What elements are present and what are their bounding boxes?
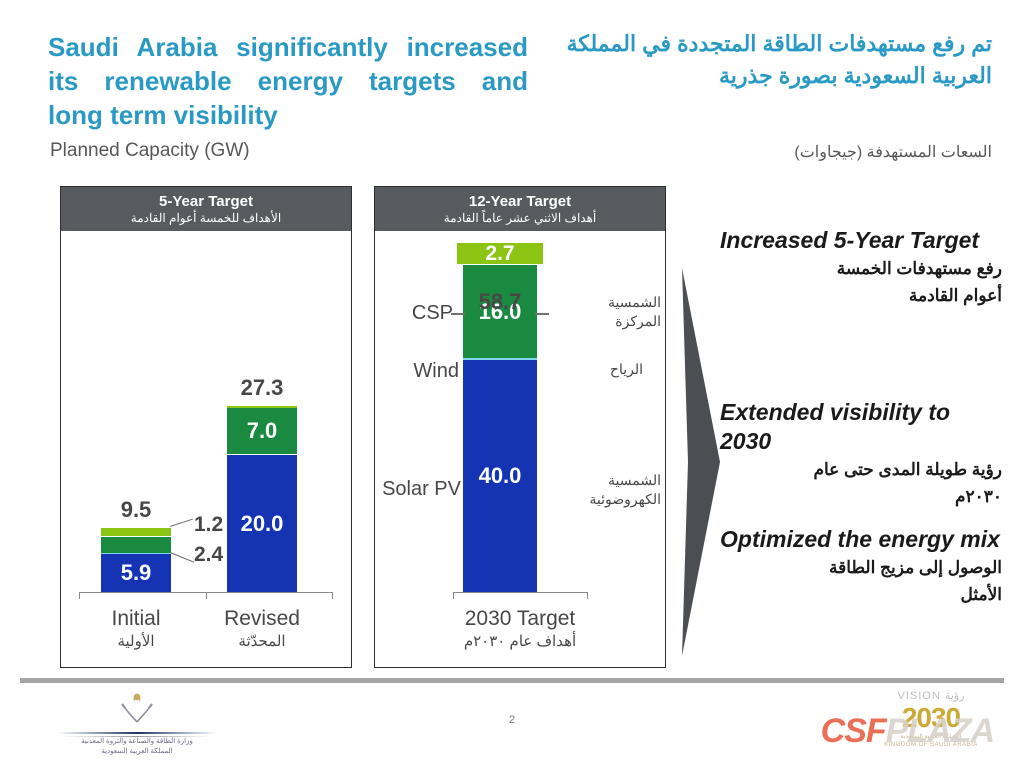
series-label-solarpv-ar: الشمسية الكهروضوئية [565,471,661,509]
page-subtitle-en: Planned Capacity (GW) [50,140,250,162]
bar-revised: 7.0 20.0 [227,406,297,592]
series-label-solarpv-ar-l1: الشمسية [565,471,661,490]
panel-header-5-year-en: 5-Year Target [65,193,347,210]
category-label-2030-en: 2030 Target [420,606,620,631]
callout-csp-1-2: 1.2 [194,513,223,537]
highlight-point-2-ar-l2: ٢٠٣٠م [720,483,1002,510]
vision-2030-logo: VISION رؤية 2030 المملكة العربية السعودي… [866,690,996,760]
x-axis-tick-left-2030 [453,592,454,599]
bar-revised-seg-solar: 20.0 [227,454,297,592]
ministry-name-line-2: المملكة العربية السعودية [52,747,222,757]
bar-revised-total: 27.3 [227,375,297,401]
ministry-logo: وزارة الطاقة والصناعة والثروة المعدنية ا… [52,692,222,758]
highlight-point-1-en: Increased 5-Year Target [720,226,1002,255]
bar-2030-seg-solar-value: 40.0 [479,465,522,487]
vision-logo-sub-ar: المملكة العربية السعودية [866,733,996,741]
x-axis-tick-mid [206,592,207,599]
category-label-2030-ar: أهداف عام ٢٠٣٠م [420,631,620,653]
callout-wind-2-4: 2.4 [194,543,223,567]
callout-wind-leader-line [170,552,194,563]
series-label-csp-ar-l2: المركزة [567,312,661,331]
bar-initial-seg-solar: 5.9 [101,553,171,592]
series-label-wind-ar: الرياح [563,360,643,379]
footer-divider [20,678,1004,683]
x-axis-line-2030 [453,592,587,593]
panel-header-12-year-ar: أهداف الاثني عشر عاماً القادمة [379,210,661,226]
highlight-point-3: Optimized the energy mix الوصول إلى مزيج… [720,525,1002,608]
vision-logo-year: 2030 [866,703,996,733]
highlight-point-2-ar: رؤية طويلة المدى حتى عام ٢٠٣٠م [720,456,1002,510]
series-label-solarpv-en: Solar PV [369,478,461,501]
bar-2030-seg-solar: 40.0 [463,358,537,592]
plot-area-5-year: 1.2 2.4 5.9 9.5 Initial الأولية 1.2 2.4 [61,231,351,667]
vision-logo-label-ar: رؤية [945,690,965,702]
highlight-point-1: Increased 5-Year Target رفع مستهدفات الخ… [720,226,1002,309]
bar-revised-seg-solar-value: 20.0 [241,513,284,535]
series-label-wind-ar-l1: الرياح [563,360,643,379]
series-label-csp-en: CSP [381,302,453,325]
x-axis-tick-right-2030 [587,592,588,599]
bar-2030-seg-csp-value: 2.7 [485,243,514,264]
category-label-initial: Initial الأولية [86,606,186,653]
bar-2030-total: 58.7 [455,289,545,315]
highlight-point-2-en: Extended visibility to 2030 [720,398,1002,456]
highlight-point-3-en: Optimized the energy mix [720,525,1002,554]
panel-header-5-year: 5-Year Target الأهداف للخمسة أعوام القاد… [61,187,351,231]
bar-revised-seg-wind: 7.0 [227,406,297,454]
series-label-csp-ar-l1: الشمسية [567,293,661,312]
series-label-csp-ar: الشمسية المركزة [567,293,661,331]
panel-header-12-year: 12-Year Target أهداف الاثني عشر عاماً ال… [375,187,665,231]
title-line-2: its renewable energy targets and [48,64,528,98]
highlight-point-1-ar-l2: أعوام القادمة [720,282,1002,309]
vision-logo-sub-en: KINGDOM OF SAUDI ARABIA [866,741,996,749]
category-label-initial-en: Initial [86,606,186,631]
category-label-revised-ar: المحدّثة [212,631,312,653]
category-label-revised: Revised المحدّثة [212,606,312,653]
chart-panel-12-year: 12-Year Target أهداف الاثني عشر عاماً ال… [374,186,666,668]
csp-connector-right [535,313,549,315]
csp-connector-left [451,313,465,315]
x-axis-tick-left [79,592,80,599]
chart-panel-5-year: 5-Year Target الأهداف للخمسة أعوام القاد… [60,186,352,668]
ministry-name-line-1: وزارة الطاقة والصناعة والثروة المعدنية [52,737,222,747]
page-title-ar: تم رفع مستهدفات الطاقة المتجددة في الممل… [522,28,992,92]
bar-revised-seg-wind-value: 7.0 [247,420,278,442]
highlight-point-1-ar-l1: رفع مستهدفات الخمسة [720,255,1002,282]
title-line-1: Saudi Arabia significantly increased [48,30,528,64]
category-label-revised-en: Revised [212,606,312,631]
saudi-emblem-icon [114,692,160,726]
callout-csp-leader-line [170,519,193,527]
bar-2030-seg-csp: 2.7 [457,242,543,264]
page-subtitle-ar: السعات المستهدفة (جيجاوات) [794,142,992,162]
slide-canvas: Saudi Arabia significantly increased its… [0,0,1024,768]
highlight-point-3-ar: الوصول إلى مزيج الطاقة الأمثل [720,554,1002,608]
category-label-initial-ar: الأولية [86,631,186,653]
page-title-en: Saudi Arabia significantly increased its… [48,30,528,132]
bar-initial-seg-solar-value: 5.9 [121,562,152,584]
series-label-solarpv-ar-l2: الكهروضوئية [565,490,661,509]
ministry-logo-rule-navy [57,732,217,734]
x-axis-tick-right [332,592,333,599]
vision-logo-label-en: VISION [898,690,941,702]
highlight-point-2-ar-l1: رؤية طويلة المدى حتى عام [720,456,1002,483]
highlight-point-2: Extended visibility to 2030 رؤية طويلة ا… [720,398,1002,510]
panel-header-12-year-en: 12-Year Target [379,193,661,210]
right-pointing-arrow-icon [668,268,720,656]
panel-header-5-year-ar: الأهداف للخمسة أعوام القادمة [65,210,347,226]
bar-initial: 1.2 2.4 5.9 [101,527,171,592]
plot-area-12-year: 2.7 16.0 40.0 58.7 CSP Wind Solar PV الش… [375,231,665,667]
highlight-point-1-ar: رفع مستهدفات الخمسة أعوام القادمة [720,255,1002,309]
highlight-point-3-ar-l1: الوصول إلى مزيج الطاقة [720,554,1002,581]
bar-initial-total: 9.5 [101,497,171,523]
category-label-2030: 2030 Target أهداف عام ٢٠٣٠م [420,606,620,653]
series-label-wind-en: Wind [375,360,459,383]
bar-initial-seg-wind: 2.4 [101,536,171,553]
highlight-point-3-ar-l2: الأمثل [720,581,1002,608]
title-line-3: long term visibility [48,98,528,132]
bar-initial-seg-csp: 1.2 [101,527,171,536]
